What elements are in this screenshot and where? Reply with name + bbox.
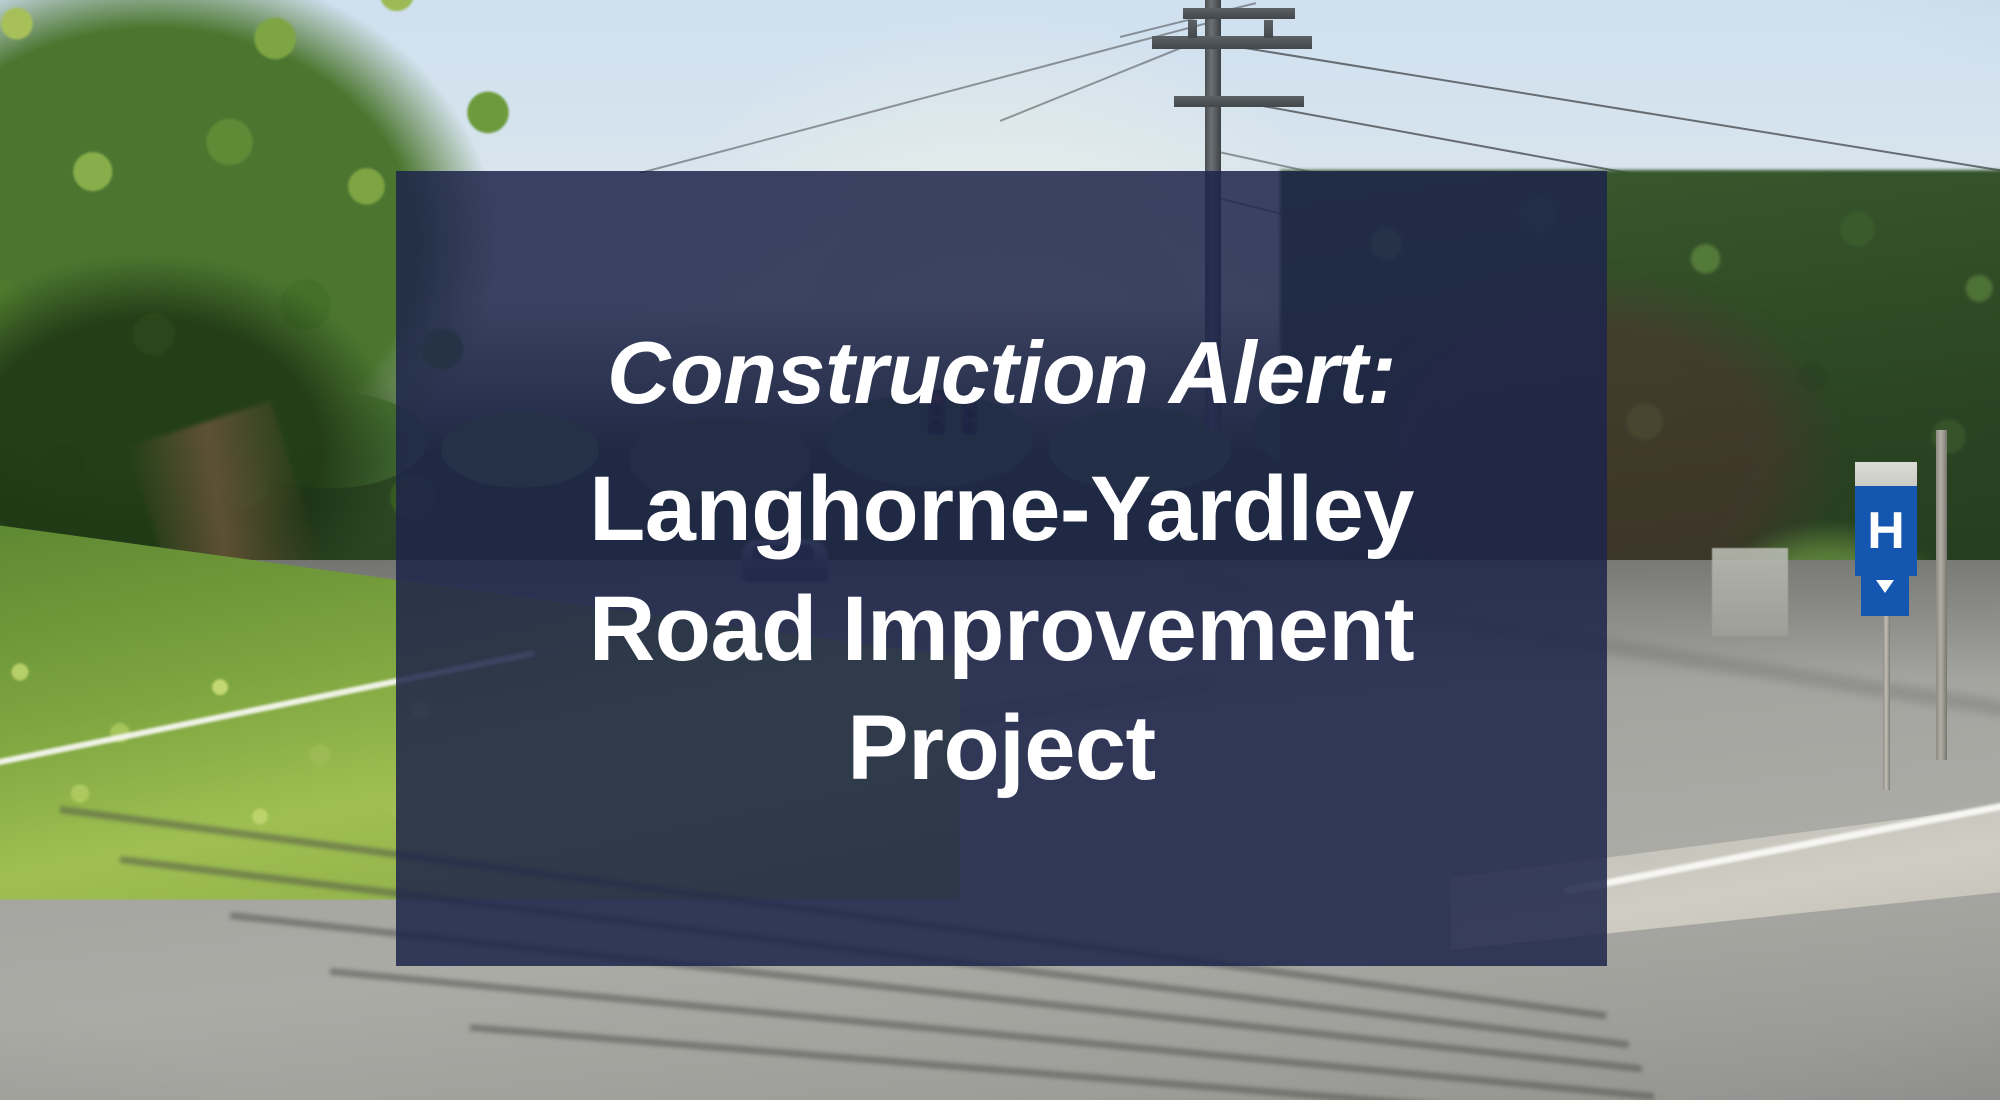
screenshot-canvas: H Construction Alert: Langhorne-Yardley …	[0, 0, 2000, 1100]
overlay-title-line-3: Project	[396, 689, 1607, 809]
announcement-overlay: Construction Alert: Langhorne-Yardley Ro…	[396, 171, 1607, 966]
overlay-kicker: Construction Alert:	[396, 328, 1607, 418]
overlay-title-line-1: Langhorne-Yardley	[396, 450, 1607, 570]
overlay-title-line-2: Road Improvement	[396, 570, 1607, 690]
